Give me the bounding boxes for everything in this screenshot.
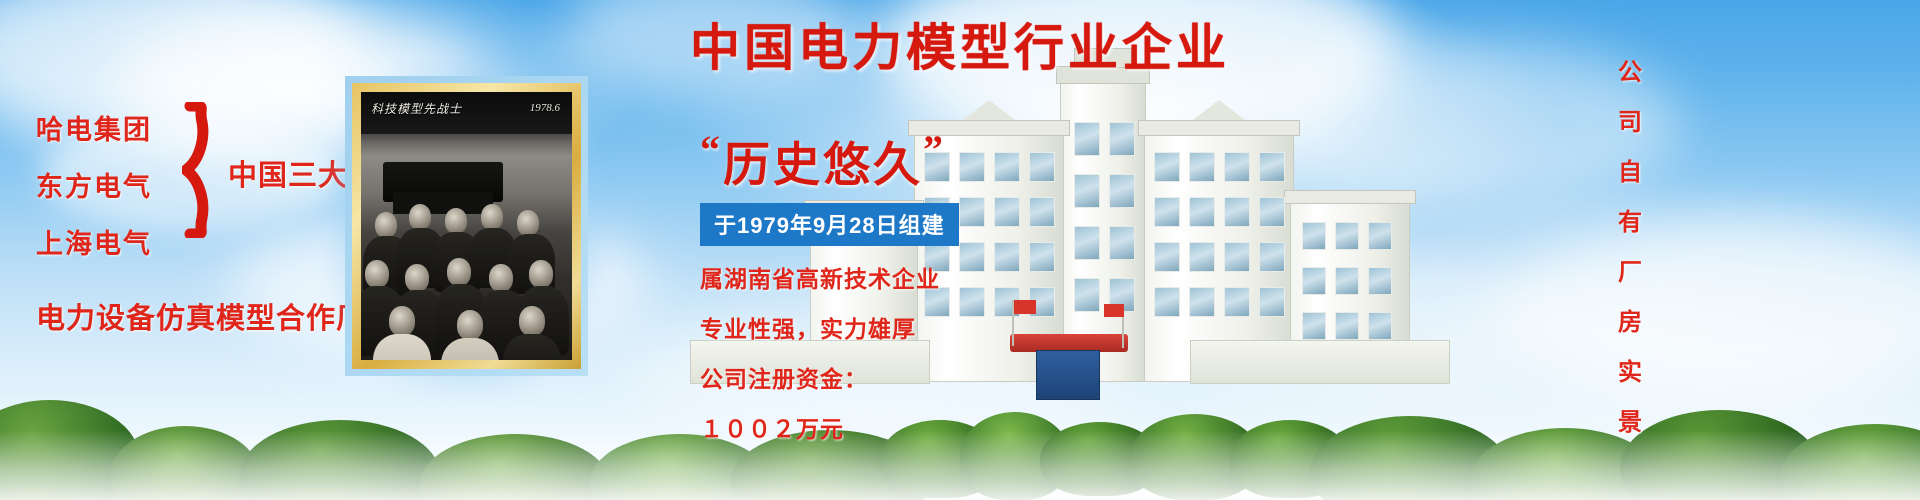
group-photo-image: 科技模型先战士 1978.6 [361,92,572,360]
center-text-block: “历史悠久” 于1979年9月28日组建 属湖南省高新技术企业 专业性强，实力雄… [700,126,1030,444]
photo-person [409,204,431,230]
vertical-char: 房 [1618,302,1642,337]
center-detail-lines: 属湖南省高新技术企业 专业性强，实力雄厚 公司注册资金： １００２万元 [700,260,1030,444]
window [1074,226,1100,260]
window [1189,287,1215,317]
vertical-char: 实 [1618,352,1642,387]
window-row [1154,197,1285,227]
right-vertical-caption: 公 司 自 有 厂 房 实 景 [1618,52,1642,437]
photo-person [389,306,415,336]
slogan-text: 历史悠久 [723,138,923,191]
window [1154,152,1180,182]
window [1029,152,1055,182]
photo-person [489,264,513,292]
vertical-char: 有 [1618,202,1642,237]
window-row [1154,287,1285,317]
window [1224,152,1250,182]
photo-caption: 科技模型先战士 [371,100,462,117]
vertical-char: 自 [1618,152,1642,187]
detail-line: 专业性强，实力雄厚 [700,310,1030,344]
window [1259,242,1285,272]
window [1189,242,1215,272]
window-row [1074,174,1135,208]
window [1154,197,1180,227]
roof-pediment [963,100,1015,120]
window [1154,287,1180,317]
photo-person [457,310,483,340]
vertical-char: 厂 [1618,252,1642,287]
window [1368,312,1392,340]
window [1109,122,1135,156]
quote-open-icon: “ [700,127,723,172]
historic-photo-frame: 科技模型先战士 1978.6 [345,76,588,376]
photo-date: 1978.6 [530,102,560,114]
photo-person [481,204,503,230]
window [1259,152,1285,182]
window [1259,287,1285,317]
window [1224,197,1250,227]
window [1074,122,1100,156]
vertical-char: 公 [1618,52,1642,87]
photo-person [365,260,389,288]
cloud-shape [1500,220,1920,400]
window [1335,267,1359,295]
photo-person [529,260,553,288]
detail-line: 属湖南省高新技术企业 [700,260,1030,294]
detail-line: １００２万元 [700,410,1030,444]
photo-table [393,192,493,214]
window [1302,222,1326,250]
promo-banner: 中国电力模型行业企业 哈电集团 东方电气 上海电气 中国三大动力 电力设备仿真模… [0,0,1920,500]
window [1302,312,1326,340]
window [1224,242,1250,272]
window [1335,222,1359,250]
window [1074,278,1100,312]
photo-person [519,306,545,336]
photo-person [375,212,397,238]
roof-pediment [1193,100,1245,120]
window [1189,152,1215,182]
window-row [1074,226,1135,260]
vertical-char: 司 [1618,102,1642,137]
red-flag [1104,304,1124,317]
window [1368,222,1392,250]
window [1109,226,1135,260]
window [1074,174,1100,208]
perimeter-wall [1190,340,1450,384]
window [1154,242,1180,272]
window [1302,267,1326,295]
window-row [1154,152,1285,182]
roof-cap [1138,120,1300,136]
curly-brace-icon [182,102,228,238]
window-row [1074,122,1135,156]
roof-cap [1284,190,1416,204]
window [1109,174,1135,208]
window [1368,267,1392,295]
slogan: “历史悠久” [700,126,1030,195]
window [1224,287,1250,317]
window-row [1154,242,1285,272]
window [1335,312,1359,340]
window-row [1302,312,1392,340]
window [1029,242,1055,272]
window-row [1302,267,1392,295]
photo-person [445,208,467,234]
vertical-char: 景 [1618,402,1642,437]
window [1029,197,1055,227]
window [1189,197,1215,227]
detail-line: 公司注册资金： [700,360,1030,394]
window [1259,197,1285,227]
photo-person [517,210,539,236]
photo-window: 科技模型先战士 1978.6 [361,92,572,360]
quote-close-icon: ” [923,127,946,172]
status-badge: 于1979年9月28日组建 [700,203,959,246]
photo-person [447,258,471,286]
photo-person [405,264,429,292]
window-row [1302,222,1392,250]
